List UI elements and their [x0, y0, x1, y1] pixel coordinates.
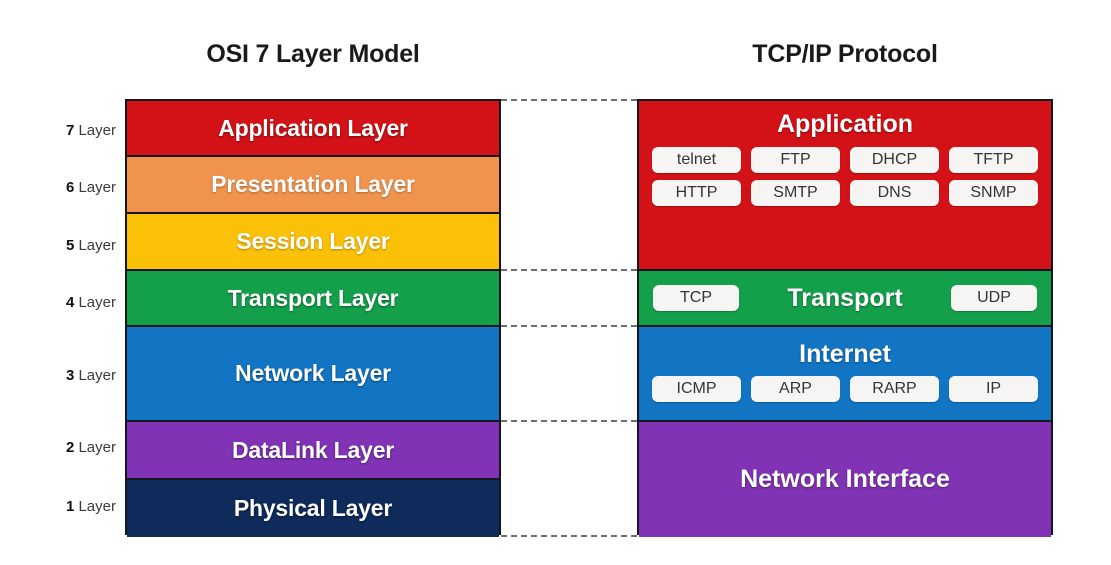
- protocol-chip-icmp[interactable]: ICMP: [652, 376, 741, 402]
- osi-layer-label: Transport Layer: [228, 285, 399, 312]
- protocol-chip-dhcp[interactable]: DHCP: [850, 147, 939, 173]
- protocol-chip-tcp[interactable]: TCP: [653, 285, 739, 311]
- osi-layer-network[interactable]: Network Layer: [127, 327, 499, 422]
- tcpip-layer-label: Network Interface: [740, 465, 950, 494]
- osi-layer-label: DataLink Layer: [232, 437, 394, 464]
- tcpip-layer-application[interactable]: Application telnet FTP DHCP TFTP HTTP SM…: [639, 101, 1051, 271]
- tcpip-layer-transport[interactable]: TCP Transport UDP: [639, 271, 1051, 327]
- layer-number-3: 3 Layer: [34, 368, 116, 383]
- osi-layer-datalink[interactable]: DataLink Layer: [127, 422, 499, 480]
- protocol-chip-smtp[interactable]: SMTP: [751, 180, 840, 206]
- osi-layer-label: Network Layer: [235, 360, 391, 387]
- application-protocol-grid: telnet FTP DHCP TFTP HTTP SMTP DNS SNMP: [639, 147, 1051, 216]
- protocol-chip-snmp[interactable]: SNMP: [949, 180, 1038, 206]
- layer-number-6: 6 Layer: [34, 180, 116, 195]
- protocol-chip-telnet[interactable]: telnet: [652, 147, 741, 173]
- osi-layer-label: Physical Layer: [234, 495, 392, 522]
- protocol-chip-udp[interactable]: UDP: [951, 285, 1037, 311]
- protocol-chip-http[interactable]: HTTP: [652, 180, 741, 206]
- tcpip-layer-network-interface[interactable]: Network Interface: [639, 422, 1051, 537]
- tcpip-title: TCP/IP Protocol: [637, 40, 1053, 69]
- connector-line-session-transport: [501, 269, 637, 271]
- internet-protocol-grid: ICMP ARP RARP IP: [639, 376, 1051, 402]
- tcpip-layer-label: Application: [639, 110, 1051, 139]
- osi-layer-application[interactable]: Application Layer: [127, 101, 499, 157]
- connector-line-bottom: [501, 535, 637, 537]
- protocol-chip-ftp[interactable]: FTP: [751, 147, 840, 173]
- layer-number-4: 4 Layer: [34, 295, 116, 310]
- protocol-chip-dns[interactable]: DNS: [850, 180, 939, 206]
- osi-title: OSI 7 Layer Model: [125, 40, 501, 69]
- osi-layer-label: Presentation Layer: [211, 171, 414, 198]
- osi-stack: Application Layer Presentation Layer Ses…: [125, 99, 501, 535]
- layer-number-column: 7 Layer 6 Layer 5 Layer 4 Layer 3 Layer …: [34, 99, 116, 535]
- tcpip-layer-label: Internet: [639, 340, 1051, 369]
- osi-layer-presentation[interactable]: Presentation Layer: [127, 157, 499, 214]
- layer-number-1: 1 Layer: [34, 499, 116, 514]
- tcpip-stack: Application telnet FTP DHCP TFTP HTTP SM…: [637, 99, 1053, 535]
- connector-line-top: [501, 99, 637, 101]
- osi-layer-label: Application Layer: [218, 115, 408, 142]
- tcpip-layer-internet[interactable]: Internet ICMP ARP RARP IP: [639, 327, 1051, 422]
- protocol-chip-arp[interactable]: ARP: [751, 376, 840, 402]
- protocol-chip-tftp[interactable]: TFTP: [949, 147, 1038, 173]
- layer-number-7: 7 Layer: [34, 123, 116, 138]
- connector-line-network-datalink: [501, 420, 637, 422]
- tcpip-layer-label: Transport: [739, 284, 951, 313]
- osi-layer-session[interactable]: Session Layer: [127, 214, 499, 271]
- layer-number-2: 2 Layer: [34, 440, 116, 455]
- osi-layer-label: Session Layer: [236, 228, 389, 255]
- protocol-chip-ip[interactable]: IP: [949, 376, 1038, 402]
- osi-layer-transport[interactable]: Transport Layer: [127, 271, 499, 327]
- osi-layer-physical[interactable]: Physical Layer: [127, 480, 499, 537]
- connector-line-transport-network: [501, 325, 637, 327]
- layer-number-5: 5 Layer: [34, 238, 116, 253]
- protocol-chip-rarp[interactable]: RARP: [850, 376, 939, 402]
